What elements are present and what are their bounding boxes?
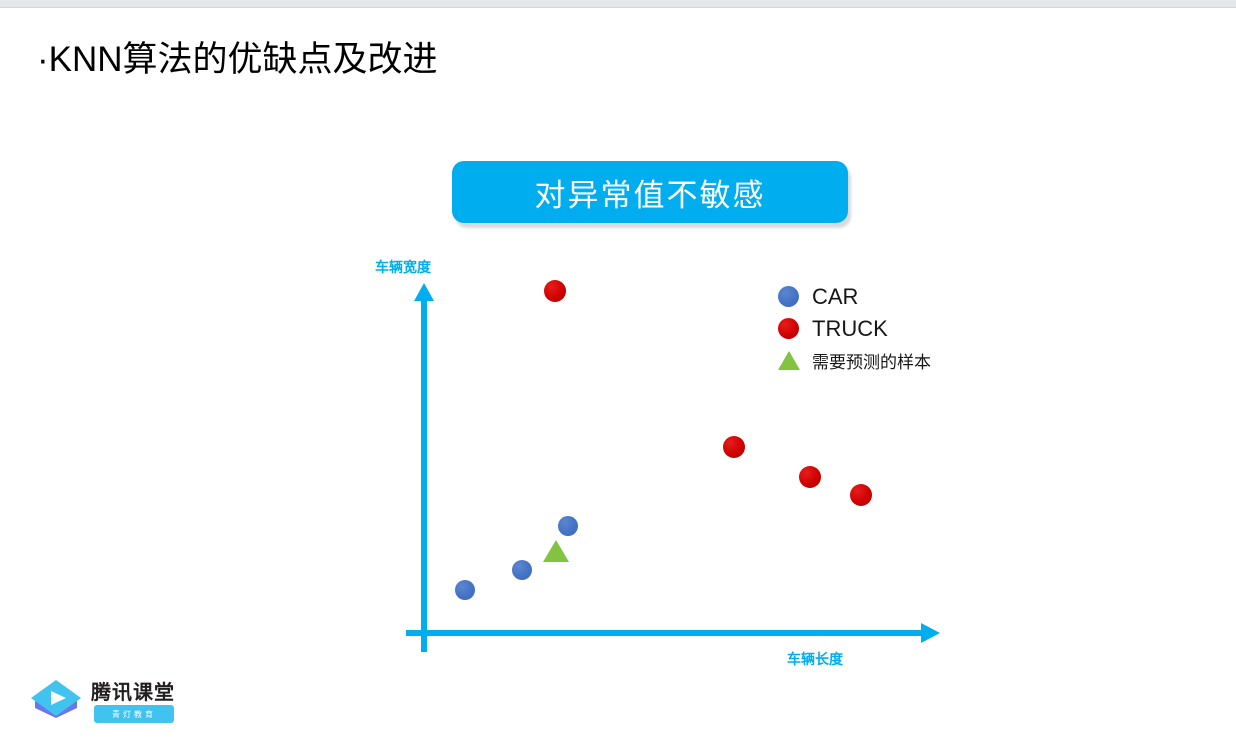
brand-name: 腾讯课堂: [91, 676, 175, 705]
y-axis-label: 车辆宽度: [375, 257, 431, 277]
legend-item-label: CAR: [812, 284, 858, 310]
data-point-truck[interactable]: [799, 466, 821, 488]
data-point-prediction-sample[interactable]: [543, 540, 569, 562]
legend-item-truck[interactable]: TRUCK: [778, 313, 931, 344]
y-axis-arrowhead: [414, 283, 434, 301]
legend-item-car[interactable]: CAR: [778, 281, 931, 312]
circle-marker-icon: [778, 318, 812, 339]
data-point-truck-outlier[interactable]: [544, 280, 566, 302]
scatter-chart: 车辆宽度 车辆长度 CAR TRUCK: [0, 0, 1236, 741]
legend-item-label: TRUCK: [812, 316, 888, 342]
data-point-car[interactable]: [512, 560, 532, 580]
data-point-car[interactable]: [558, 516, 578, 536]
data-point-car[interactable]: [455, 580, 475, 600]
slide-canvas: ·KNN算法的优缺点及改进 对异常值不敏感 车辆宽度 车辆长度: [0, 0, 1236, 741]
chart-axes: [0, 0, 1236, 741]
legend-item-label: 需要预测的样本: [812, 348, 931, 373]
circle-marker-icon: [778, 286, 812, 307]
chart-legend: CAR TRUCK 需要预测的样本: [778, 281, 931, 377]
triangle-marker-icon: [778, 351, 812, 370]
data-point-truck[interactable]: [723, 436, 745, 458]
brand-logo[interactable]: 腾讯课堂 青灯教育: [28, 674, 180, 736]
brand-badge: 青灯教育: [94, 705, 174, 723]
x-axis-label: 车辆长度: [787, 649, 843, 669]
x-axis-arrowhead: [921, 623, 940, 643]
graduation-cap-play-icon: [28, 674, 88, 736]
data-point-truck[interactable]: [850, 484, 872, 506]
legend-item-prediction-sample[interactable]: 需要预测的样本: [778, 345, 931, 376]
